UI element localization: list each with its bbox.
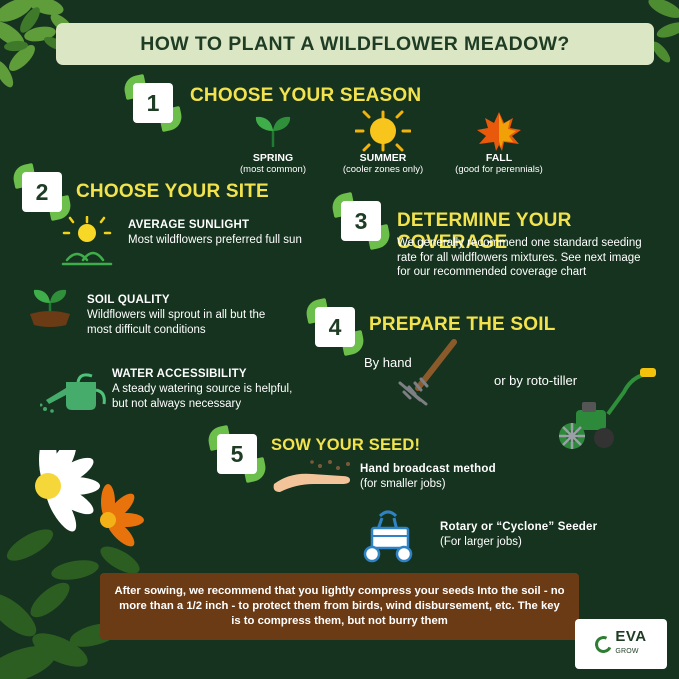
label-by-hand: By hand — [364, 355, 412, 370]
sprout-soil-icon — [22, 285, 78, 329]
step-badge-1: 1 — [133, 83, 173, 123]
orange-flower — [100, 484, 144, 550]
season-note: (cooler zones only) — [333, 164, 433, 175]
logo-word2: GROW — [615, 644, 646, 659]
step-badge-3: 3 — [341, 201, 381, 241]
step-number: 1 — [133, 83, 173, 123]
watering-can-icon — [40, 370, 110, 414]
season-label-summer: SUMMER (cooler zones only) — [333, 152, 433, 175]
body-soil-quality: Wildflowers will sprout in all but the m… — [87, 308, 267, 337]
label-roto-tiller: or by roto-tiller — [494, 373, 577, 388]
sunlight-field-icon — [57, 216, 117, 266]
note-hand-broadcast: (for smaller jobs) — [360, 477, 560, 492]
step-title-1: CHOOSE YOUR SEASON — [190, 85, 421, 107]
subhead-average-sunlight: AVERAGE SUNLIGHT — [128, 219, 249, 231]
seed-spreader-icon — [356, 508, 436, 564]
step-badge-2: 2 — [22, 172, 62, 212]
body-average-sunlight: Most wildflowers preferred full sun — [128, 233, 318, 248]
step-badge-5: 5 — [217, 434, 257, 474]
season-name: SPRING — [233, 152, 313, 164]
maple-leaf-icon — [471, 108, 527, 154]
subhead-water-accessibility: WATER ACCESSIBILITY — [112, 368, 247, 380]
page-title: HOW TO PLANT A WILDFLOWER MEADOW? — [140, 33, 570, 56]
brand-logo: EVA GROW — [575, 619, 667, 669]
rake-icon — [396, 338, 466, 410]
leaf-circle-icon — [593, 633, 615, 655]
season-label-fall: FALL (good for perennials) — [444, 152, 554, 175]
note-rotary-seeder: (For larger jobs) — [440, 535, 640, 550]
footer-note-box: After sowing, we recommend that you ligh… — [100, 573, 579, 640]
step-title-2: CHOOSE YOUR SITE — [76, 181, 269, 203]
subhead-hand-broadcast: Hand broadcast method — [360, 463, 496, 475]
logo-name: EVA — [615, 628, 646, 645]
season-name: FALL — [444, 152, 554, 164]
infographic-root: HOW TO PLANT A WILDFLOWER MEADOW? 1 CHOO… — [0, 0, 679, 679]
season-name: SUMMER — [333, 152, 433, 164]
step-title-4: PREPARE THE SOIL — [369, 314, 556, 336]
body-determine-coverage: We generally recommend one standard seed… — [397, 236, 657, 280]
season-note: (most common) — [233, 164, 313, 175]
season-note: (good for perennials) — [444, 164, 554, 175]
hand-broadcast-icon — [268, 458, 358, 498]
daisy-petals — [35, 450, 100, 536]
body-water-accessibility: A steady watering source is helpful, but… — [112, 382, 302, 411]
step-number: 3 — [341, 201, 381, 241]
daisy-flower-decoration — [0, 450, 170, 679]
step-number: 2 — [22, 172, 62, 212]
logo-text: EVA GROW — [615, 629, 646, 659]
subhead-soil-quality: SOIL QUALITY — [87, 294, 170, 306]
step-number: 5 — [217, 434, 257, 474]
sun-icon — [355, 110, 411, 152]
step-title-5: SOW YOUR SEED! — [271, 436, 420, 455]
footer-note-text: After sowing, we recommend that you ligh… — [114, 584, 565, 629]
step-number: 4 — [315, 307, 355, 347]
step-badge-4: 4 — [315, 307, 355, 347]
season-label-spring: SPRING (most common) — [233, 152, 313, 175]
seedling-icon — [251, 113, 295, 149]
header-banner: HOW TO PLANT A WILDFLOWER MEADOW? — [56, 23, 654, 65]
subhead-rotary-seeder: Rotary or “Cyclone” Seeder — [440, 521, 597, 533]
